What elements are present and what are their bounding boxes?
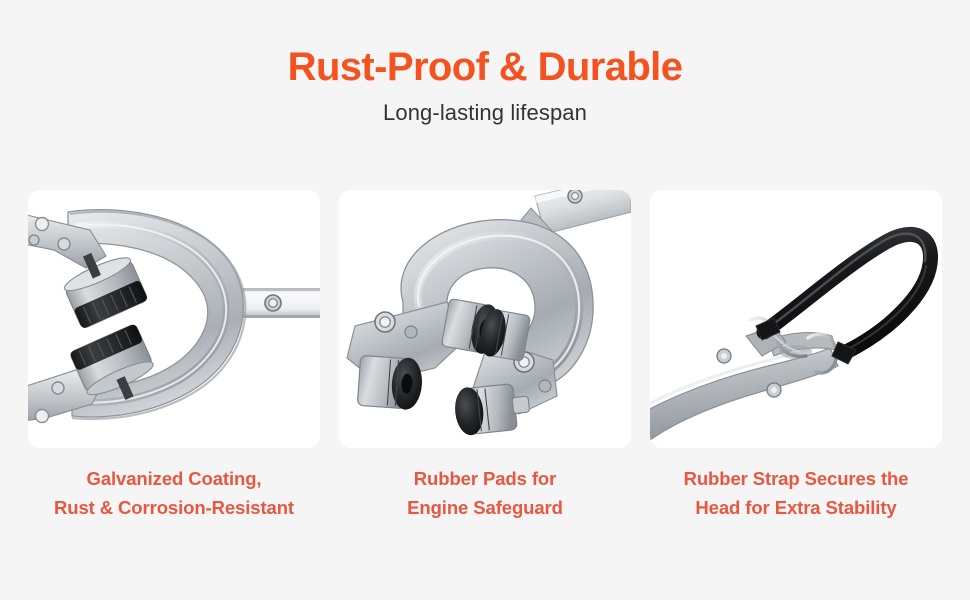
galvanized-clamp-head-closeup-image — [28, 190, 320, 448]
rubber-strap-with-hooks-image — [650, 190, 942, 448]
page-title: Rust-Proof & Durable — [0, 0, 970, 89]
feature-caption-1: Galvanized Coating, Rust & Corrosion-Res… — [28, 464, 320, 522]
feature-card-3 — [650, 190, 942, 448]
feature-caption-1-line2: Rust & Corrosion-Resistant — [28, 493, 320, 522]
header: Rust-Proof & Durable Long-lasting lifesp… — [0, 0, 970, 126]
feature-card-2 — [339, 190, 631, 448]
feature-caption-3-line2: Head for Extra Stability — [650, 493, 942, 522]
feature-caption-3: Rubber Strap Secures the Head for Extra … — [650, 464, 942, 522]
feature-caption-2-line2: Engine Safeguard — [339, 493, 631, 522]
feature-caption-3-line1: Rubber Strap Secures the — [684, 468, 909, 489]
rubber-pads-angled-view-image — [339, 190, 631, 448]
feature-caption-2: Rubber Pads for Engine Safeguard — [339, 464, 631, 522]
promo-banner: Rust-Proof & Durable Long-lasting lifesp… — [0, 0, 970, 600]
feature-card-1 — [28, 190, 320, 448]
feature-caption-2-line1: Rubber Pads for — [414, 468, 556, 489]
feature-caption-1-line1: Galvanized Coating, — [87, 468, 262, 489]
feature-cards-row — [28, 190, 942, 448]
page-subtitle: Long-lasting lifespan — [0, 89, 970, 126]
feature-captions-row: Galvanized Coating, Rust & Corrosion-Res… — [28, 464, 942, 522]
